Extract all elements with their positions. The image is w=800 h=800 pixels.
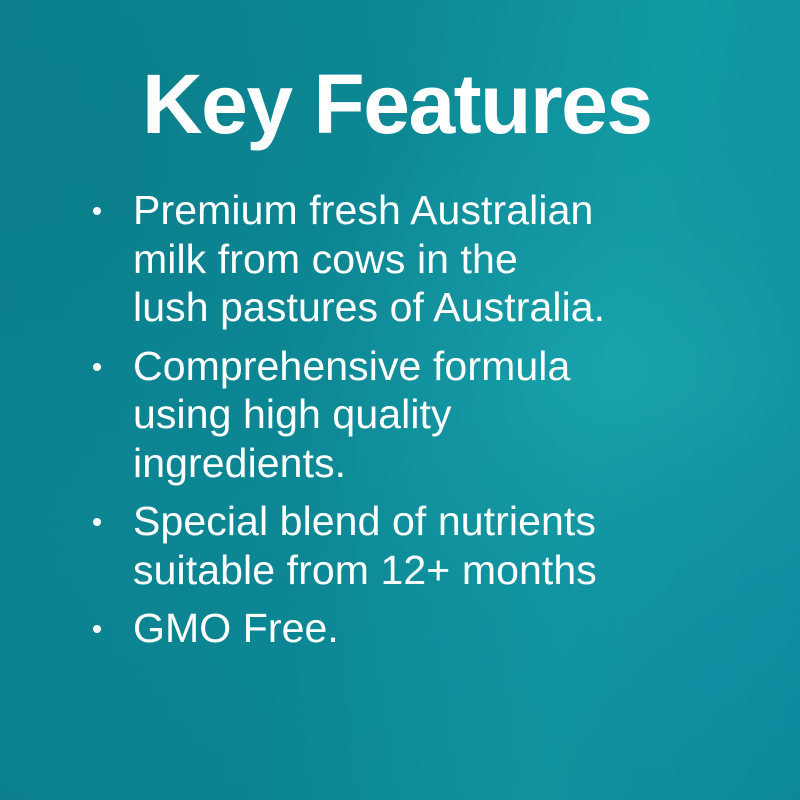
slide-content: Key Features Premium fresh Australian mi…: [0, 0, 800, 800]
feature-text: Premium fresh Australian milk from cows …: [133, 186, 748, 332]
features-list: Premium fresh Australian milk from cows …: [88, 186, 748, 653]
feature-text: GMO Free.: [133, 604, 748, 653]
bullet-point-icon: [93, 625, 101, 633]
key-features-slide: Key Features Premium fresh Australian mi…: [0, 0, 800, 800]
bullet-point-icon: [93, 207, 101, 215]
page-title: Key Features: [142, 62, 762, 146]
feature-text: Special blend of nutrients suitable from…: [133, 497, 748, 594]
feature-text: Comprehensive formula using high quality…: [133, 342, 748, 488]
bullet-point-icon: [93, 518, 101, 526]
list-item: Comprehensive formula using high quality…: [88, 342, 748, 488]
list-item: Premium fresh Australian milk from cows …: [88, 186, 748, 332]
list-item: Special blend of nutrients suitable from…: [88, 497, 748, 594]
bullet-point-icon: [93, 363, 101, 371]
list-item: GMO Free.: [88, 604, 748, 653]
